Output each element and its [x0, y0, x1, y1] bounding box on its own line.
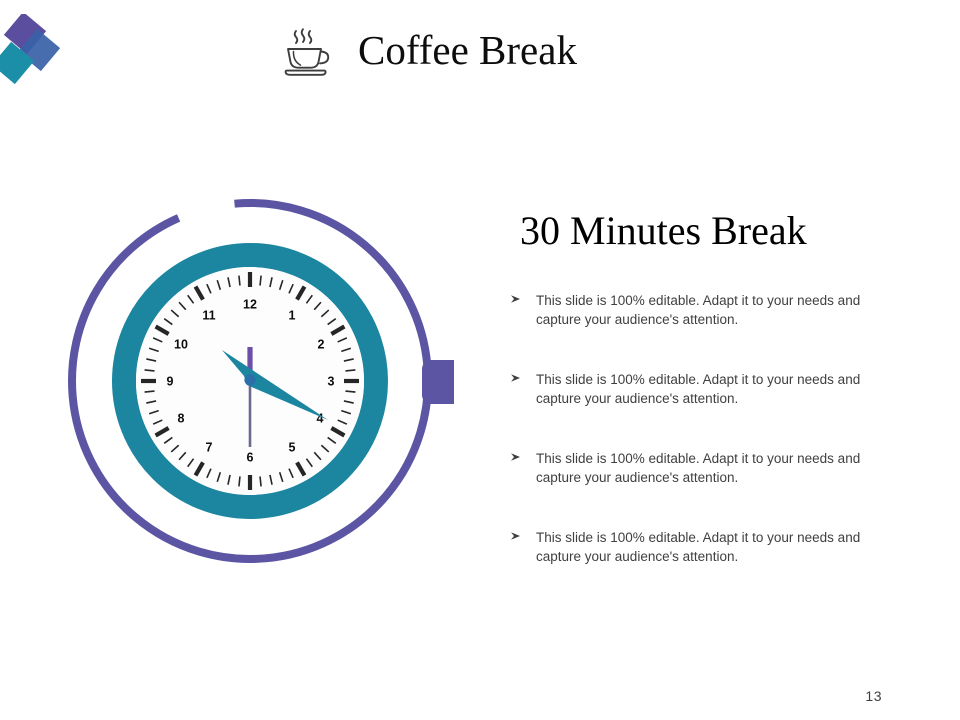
list-item: This slide is 100% editable. Adapt it to… — [506, 371, 906, 408]
clock-numeral-7: 7 — [206, 440, 213, 454]
clock-numeral-3: 3 — [328, 374, 335, 388]
list-item-text: This slide is 100% editable. Adapt it to… — [536, 292, 876, 329]
clock-numeral-5: 5 — [289, 440, 296, 454]
page-number: 13 — [865, 688, 882, 704]
clock-numeral-9: 9 — [167, 374, 174, 388]
clock-numeral-10: 10 — [174, 337, 188, 351]
slide-canvas: Coffee Break — [0, 0, 960, 720]
clock-center-hub — [244, 374, 255, 385]
page-title: Coffee Break — [358, 24, 577, 76]
coffee-cup-icon — [276, 22, 338, 84]
list-item-text: This slide is 100% editable. Adapt it to… — [536, 529, 876, 566]
list-item: This slide is 100% editable. Adapt it to… — [506, 529, 906, 566]
brand-diamond-logo — [0, 14, 62, 90]
clock-numeral-11: 11 — [202, 308, 215, 322]
clock-numeral-6: 6 — [247, 450, 254, 464]
bullet-list: This slide is 100% editable. Adapt it to… — [506, 292, 906, 566]
analog-clock-graphic: 12 1 2 3 4 5 6 7 8 9 10 11 — [54, 190, 454, 580]
clock-crown-tab — [422, 360, 454, 404]
clock-numeral-1: 1 — [289, 308, 296, 322]
arrowhead-bullet-icon — [509, 371, 525, 387]
arrowhead-bullet-icon — [509, 529, 525, 545]
list-item-text: This slide is 100% editable. Adapt it to… — [536, 371, 876, 408]
arrowhead-bullet-icon — [509, 450, 525, 466]
list-item: This slide is 100% editable. Adapt it to… — [506, 292, 906, 329]
content-heading: 30 Minutes Break — [520, 203, 807, 259]
clock-numeral-2: 2 — [318, 337, 325, 351]
clock-numeral-8: 8 — [178, 411, 185, 425]
clock-numeral-12: 12 — [243, 297, 257, 311]
arrowhead-bullet-icon — [509, 292, 525, 308]
list-item: This slide is 100% editable. Adapt it to… — [506, 450, 906, 487]
list-item-text: This slide is 100% editable. Adapt it to… — [536, 450, 876, 487]
